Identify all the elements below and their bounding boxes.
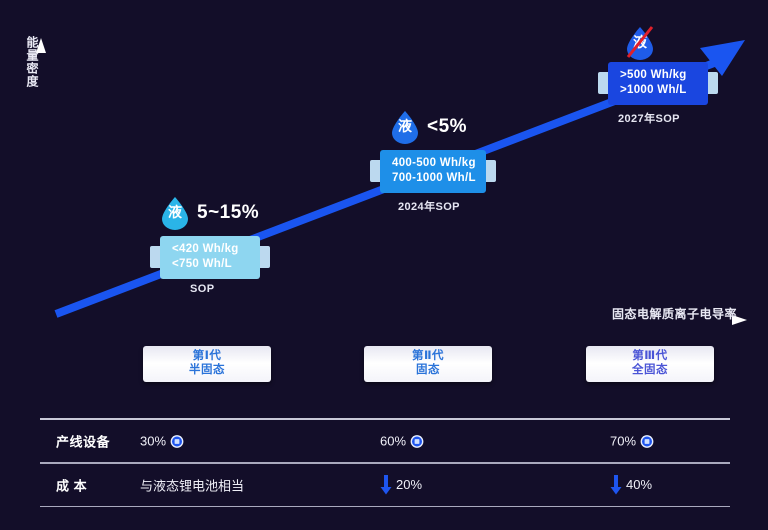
cell-value: 60% <box>380 434 406 449</box>
cell-cost-gen1: 与液态锂电池相当 <box>140 475 244 494</box>
table-rule-bottom <box>40 506 730 508</box>
blue-circle-badge-icon <box>410 434 424 448</box>
generation-name: 第Ⅲ代 <box>632 350 667 364</box>
droplet-char: 液 <box>390 119 420 133</box>
spec-volumetric: >1000 Wh/L <box>620 83 698 98</box>
droplet-group-gen1: 液 5~15% <box>160 196 259 230</box>
generation-chip-2[interactable]: 第Ⅱ代 固态 <box>364 346 492 382</box>
row-label-equipment: 产线设备 <box>56 432 110 451</box>
sop-label-gen1: SOP <box>190 283 214 295</box>
infographic-canvas: 能量密度 固态电解质离子电导率 液 5~15% <420 Wh/kg <750 … <box>0 0 768 530</box>
cell-value: 20% <box>396 477 422 492</box>
spec-gravimetric: >500 Wh/kg <box>620 68 698 83</box>
generation-type: 全固态 <box>632 364 668 378</box>
generation-name: 第Ⅰ代 <box>193 350 222 364</box>
cell-value: 70% <box>610 434 636 449</box>
liquid-content-pct: <5% <box>427 116 467 138</box>
generation-type: 半固态 <box>189 364 225 378</box>
cell-cost-gen3: 40% <box>610 475 652 495</box>
spec-gravimetric: <420 Wh/kg <box>172 242 250 257</box>
battery-card-gen3[interactable]: >500 Wh/kg >1000 Wh/L <box>608 62 708 105</box>
generation-chip-3[interactable]: 第Ⅲ代 全固态 <box>586 346 714 382</box>
droplet-group-gen3: 液 <box>625 26 662 60</box>
cell-equipment-gen1: 30% <box>140 434 184 449</box>
x-axis-label: 固态电解质离子电导率 <box>612 305 737 322</box>
droplet-group-gen2: 液 <5% <box>390 110 467 144</box>
cell-value: 40% <box>626 477 652 492</box>
row-label-cost: 成 本 <box>56 475 87 494</box>
spec-volumetric: 700-1000 Wh/L <box>392 171 476 186</box>
down-arrow-icon <box>610 475 622 495</box>
sop-label-gen3: 2027年SOP <box>618 110 680 126</box>
liquid-droplet-icon: 液 <box>160 196 190 230</box>
cell-value: 30% <box>140 434 166 449</box>
no-liquid-droplet-icon: 液 <box>625 26 655 60</box>
cell-value: 与液态锂电池相当 <box>140 475 244 494</box>
y-axis-label: 能量密度 <box>18 36 38 88</box>
spec-volumetric: <750 Wh/L <box>172 257 250 272</box>
liquid-content-pct: 5~15% <box>197 202 259 224</box>
table-row: 产线设备 30% 60% 70% <box>40 420 730 462</box>
generation-type: 固态 <box>416 364 440 378</box>
cell-equipment-gen2: 60% <box>380 434 424 449</box>
sop-label-gen2: 2024年SOP <box>398 198 460 214</box>
spec-gravimetric: 400-500 Wh/kg <box>392 156 476 171</box>
cell-equipment-gen3: 70% <box>610 434 654 449</box>
liquid-droplet-icon: 液 <box>390 110 420 144</box>
blue-circle-badge-icon <box>640 434 654 448</box>
cell-cost-gen2: 20% <box>380 475 422 495</box>
battery-card-gen2[interactable]: 400-500 Wh/kg 700-1000 Wh/L <box>380 150 486 193</box>
generation-chip-1[interactable]: 第Ⅰ代 半固态 <box>143 346 271 382</box>
droplet-char: 液 <box>160 205 190 219</box>
table-row: 成 本 与液态锂电池相当 20% 40% <box>40 464 730 506</box>
comparison-table: 产线设备 30% 60% 70% <box>40 418 730 507</box>
generation-name: 第Ⅱ代 <box>412 350 444 364</box>
down-arrow-icon <box>380 475 392 495</box>
battery-card-gen1[interactable]: <420 Wh/kg <750 Wh/L <box>160 236 260 279</box>
blue-circle-badge-icon <box>170 434 184 448</box>
red-slash-icon <box>623 24 657 62</box>
